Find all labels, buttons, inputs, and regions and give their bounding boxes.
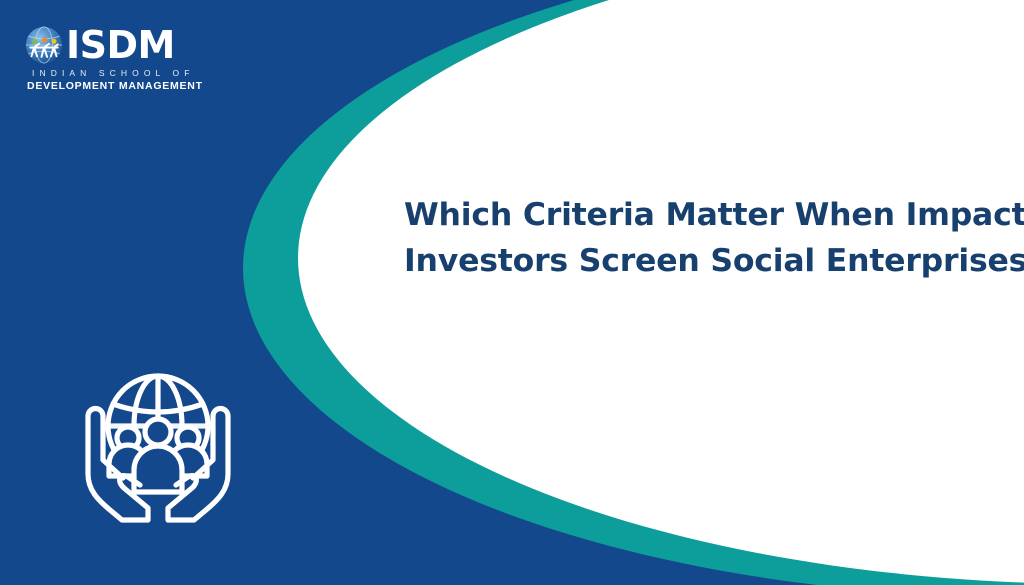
- teal-arc-shape: [243, 0, 1024, 585]
- page-title: Which Criteria Matter When Impact Invest…: [404, 192, 1016, 284]
- white-panel-shape: [298, 0, 1024, 584]
- isdm-logo: ISDM INDIAN SCHOOL OF DEVELOPMENT MANAGE…: [24, 24, 194, 96]
- hands-holding-globe-people-icon: [78, 358, 238, 538]
- isdm-globe-icon: [24, 25, 64, 65]
- page-title-line-2: Investors Screen Social Enterprises?: [404, 238, 1016, 284]
- logo-tagline-line1: INDIAN SCHOOL OF: [32, 68, 194, 79]
- logo-primary-row: ISDM: [24, 24, 194, 66]
- logo-tagline-line2: DEVELOPMENT MANAGEMENT: [27, 80, 194, 93]
- isdm-wordmark: ISDM: [66, 26, 175, 64]
- title-slide: ISDM INDIAN SCHOOL OF DEVELOPMENT MANAGE…: [0, 0, 1024, 585]
- page-title-line-1: Which Criteria Matter When Impact: [404, 192, 1016, 238]
